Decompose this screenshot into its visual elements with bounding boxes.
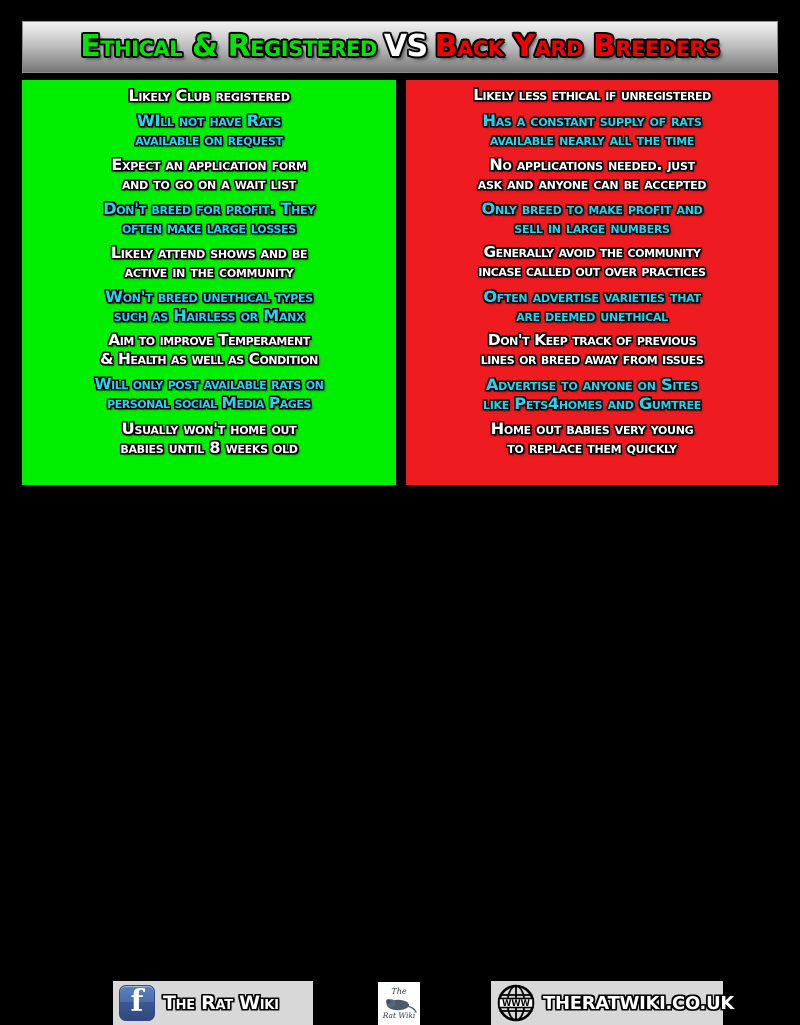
header-right-title: Back yard Breeders — [435, 32, 720, 62]
point-line: are deemed unethical — [412, 306, 772, 325]
list-item: Don't Keep track of previous lines or br… — [410, 331, 774, 369]
list-item: Often advertise varieties that are deeme… — [410, 287, 774, 325]
svg-text:The: The — [391, 987, 406, 996]
facebook-label: The Rat Wiki — [163, 992, 279, 1014]
list-item: Has a constant supply of rats available … — [410, 111, 774, 149]
globe-www-text: WWW — [502, 998, 530, 1008]
list-item: Don't breed for profit. They often make … — [26, 199, 392, 237]
point-line: available nearly all the time — [412, 130, 772, 149]
list-item: Only breed to make profit and sell in la… — [410, 199, 774, 237]
infographic-poster: Ethical & Registered VS Back yard Breede… — [0, 0, 800, 545]
list-item: Advertise to anyone on Sites like Pets4h… — [410, 375, 774, 413]
point-line: & Health as well as Condition — [28, 350, 390, 369]
point-line: such as Hairless or Manx — [28, 306, 390, 325]
list-item: Expect an application form and to go on … — [26, 155, 392, 193]
point-line: personal social Media Pages — [28, 394, 390, 413]
point-line: Generally avoid the community — [412, 243, 772, 262]
point-line: Expect an application form — [28, 155, 390, 174]
list-item: Will only post available rats on persona… — [26, 375, 392, 413]
rat-wiki-logo-badge: The Rat Wiki — [378, 982, 420, 1025]
point-line: sell in large numbers — [412, 218, 772, 237]
list-item: Won't breed unethical types such as Hair… — [26, 287, 392, 325]
list-item: WIll not have Rats available on request — [26, 111, 392, 149]
list-item: Generally avoid the community incase cal… — [410, 243, 774, 281]
point-line: WIll not have Rats — [28, 111, 390, 130]
svg-text:Rat Wiki: Rat Wiki — [382, 1011, 416, 1020]
list-item: Usually won't home out babies until 8 we… — [26, 419, 392, 457]
point-line: Only breed to make profit and — [412, 199, 772, 218]
point-line: Usually won't home out — [28, 419, 390, 438]
header-vs-label: VS — [384, 32, 428, 62]
list-item: Likely less ethical if unregistered — [410, 86, 774, 105]
list-item: Aim to improve Temperament & Health as w… — [26, 331, 392, 369]
list-item: Home out babies very young to replace th… — [410, 419, 774, 457]
point-line: active in the community — [28, 262, 390, 281]
point-line: and to go on a wait list — [28, 174, 390, 193]
point-line: Aim to improve Temperament — [28, 331, 390, 350]
point-line: babies until 8 weeks old — [28, 438, 390, 457]
list-item: Likely Club registered — [26, 86, 392, 105]
point-line: often make large losses — [28, 218, 390, 237]
website-label: theratwiki.co.uk — [543, 993, 734, 1014]
point-line: Advertise to anyone on Sites — [412, 375, 772, 394]
backyard-breeders-column: Likely less ethical if unregistered Has … — [406, 80, 778, 485]
point-line: to replace them quickly — [412, 438, 772, 457]
website-badge[interactable]: WWW theratwiki.co.uk — [491, 981, 723, 1025]
facebook-icon — [119, 985, 155, 1021]
point-line: Likely attend shows and be — [28, 243, 390, 262]
footer-bar: The Rat Wiki The Rat Wiki — [0, 489, 800, 545]
header-banner: Ethical & Registered VS Back yard Breede… — [22, 21, 778, 73]
point-line: available on request — [28, 130, 390, 149]
list-item: Likely attend shows and be active in the… — [26, 243, 392, 281]
ethical-points-list: Likely Club registered WIll not have Rat… — [22, 80, 396, 485]
rat-wiki-logo-icon: The Rat Wiki — [380, 984, 418, 1023]
globe-www-icon: WWW — [497, 984, 535, 1022]
point-line: Home out babies very young — [412, 419, 772, 438]
backyard-points-list: Likely less ethical if unregistered Has … — [406, 80, 778, 485]
point-line: Likely less ethical if unregistered — [412, 86, 772, 105]
list-item: No applications needed. just ask and any… — [410, 155, 774, 193]
point-line: Has a constant supply of rats — [412, 111, 772, 130]
point-line: ask and anyone can be accepted — [412, 174, 772, 193]
point-line: Won't breed unethical types — [28, 287, 390, 306]
header-left-title: Ethical & Registered — [80, 32, 377, 62]
point-line: like Pets4homes and Gumtree — [412, 394, 772, 413]
point-line: Likely Club registered — [28, 86, 390, 105]
point-line: lines or breed away from issues — [412, 350, 772, 369]
point-line: incase called out over practices — [412, 262, 772, 281]
point-line: Don't Keep track of previous — [412, 331, 772, 350]
point-line: Don't breed for profit. They — [28, 199, 390, 218]
facebook-badge[interactable]: The Rat Wiki — [113, 981, 313, 1025]
point-line: Often advertise varieties that — [412, 287, 772, 306]
ethical-breeders-column: Likely Club registered WIll not have Rat… — [22, 80, 396, 485]
point-line: Will only post available rats on — [28, 375, 390, 394]
point-line: No applications needed. just — [412, 155, 772, 174]
